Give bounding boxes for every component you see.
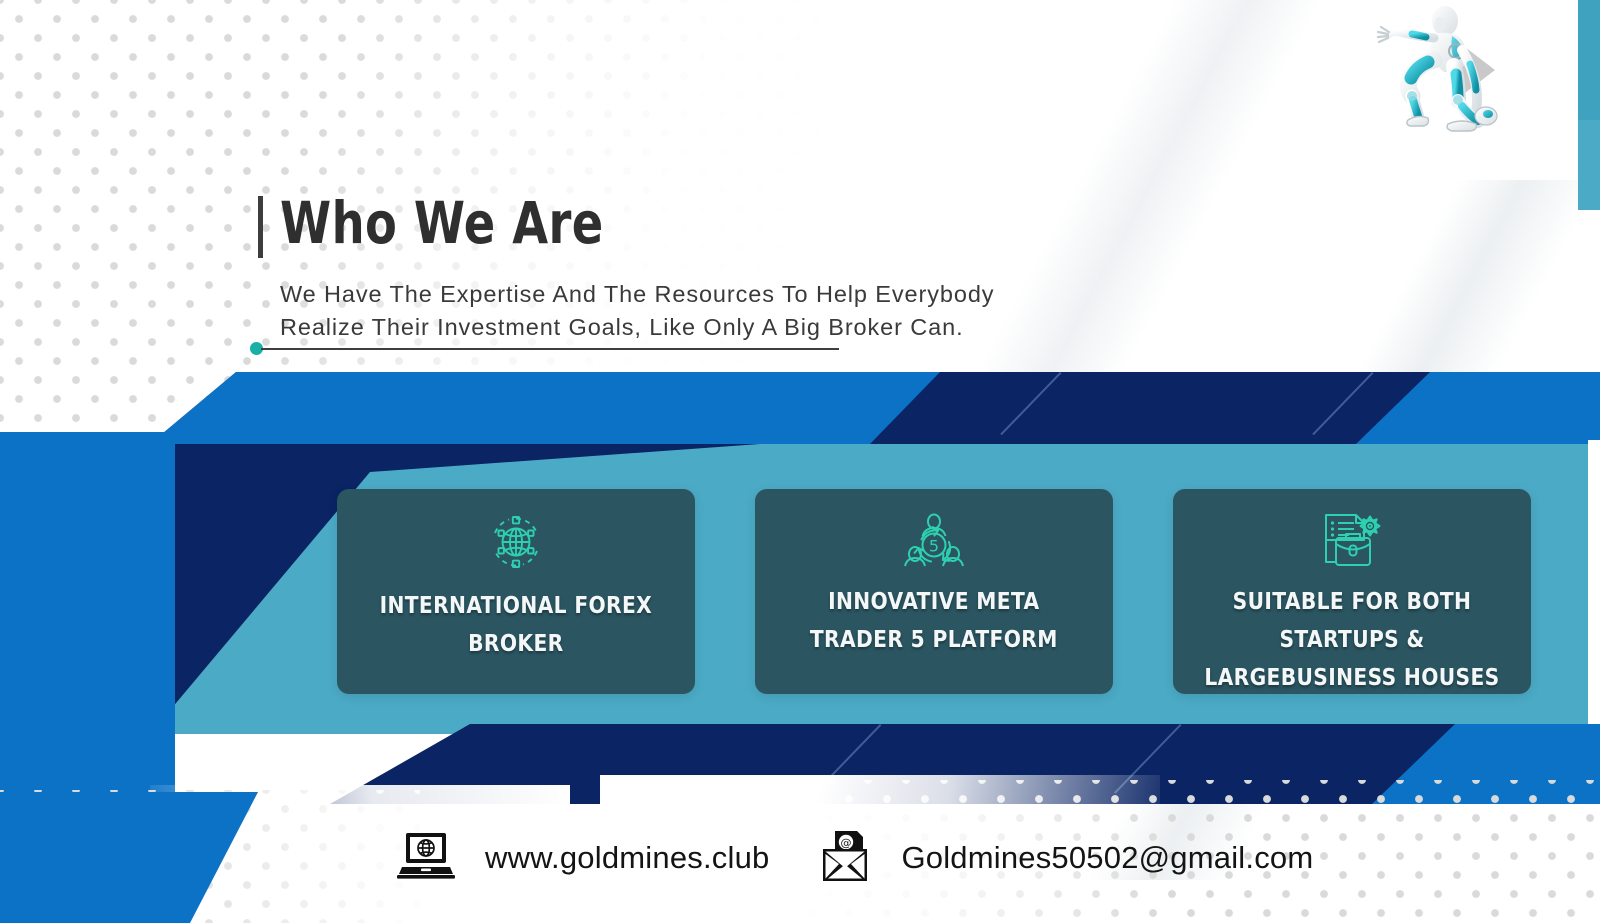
heading-rule-line (261, 348, 839, 350)
svg-text:5: 5 (929, 537, 939, 556)
page-subtitle: We Have The Expertise And The Resources … (280, 278, 1158, 344)
slide-canvas: Who We Are We Have The Expertise And The… (0, 0, 1600, 923)
right-edge-teal-strip-dark (1578, 0, 1600, 120)
svg-text:@: @ (841, 836, 852, 849)
footer-contact-bar: www.goldmines.club @ Goldmine (395, 826, 1313, 890)
envelope-at-icon: @ (813, 827, 875, 890)
feature-card-international-forex-broker[interactable]: INTERNATIONAL FOREX BROKER (337, 489, 695, 694)
briefcase-document-gear-icon (1318, 511, 1386, 573)
android-robot-icon (1366, 4, 1516, 144)
feature-card-label: INTERNATIONAL FOREX BROKER (380, 587, 653, 663)
footer-website-item[interactable]: www.goldmines.club (395, 829, 769, 888)
footer-website-text: www.goldmines.club (485, 840, 769, 876)
footer-email-item[interactable]: @ Goldmines50502@gmail.com (813, 827, 1313, 890)
feature-card-meta-trader-5-platform[interactable]: 5 INNOVATIVE META TRADER 5 PLATFORM (755, 489, 1113, 694)
title-tick-mark (258, 196, 263, 258)
heading-rule (250, 340, 840, 356)
globe-network-icon (485, 511, 547, 573)
feature-card-label: SUITABLE FOR BOTH STARTUPS & LARGEBUSINE… (1194, 583, 1509, 697)
feature-card-label: INNOVATIVE META TRADER 5 PLATFORM (810, 583, 1058, 659)
heading-block: Who We Are We Have The Expertise And The… (258, 192, 1158, 344)
feature-card-startups-and-business-houses[interactable]: SUITABLE FOR BOTH STARTUPS & LARGEBUSINE… (1173, 489, 1531, 694)
laptop-globe-icon (395, 829, 457, 888)
right-white-strip (1588, 440, 1600, 736)
footer-email-text: Goldmines50502@gmail.com (901, 840, 1313, 876)
team-collaboration-5-icon: 5 (901, 511, 967, 573)
page-title: Who We Are (280, 192, 604, 254)
